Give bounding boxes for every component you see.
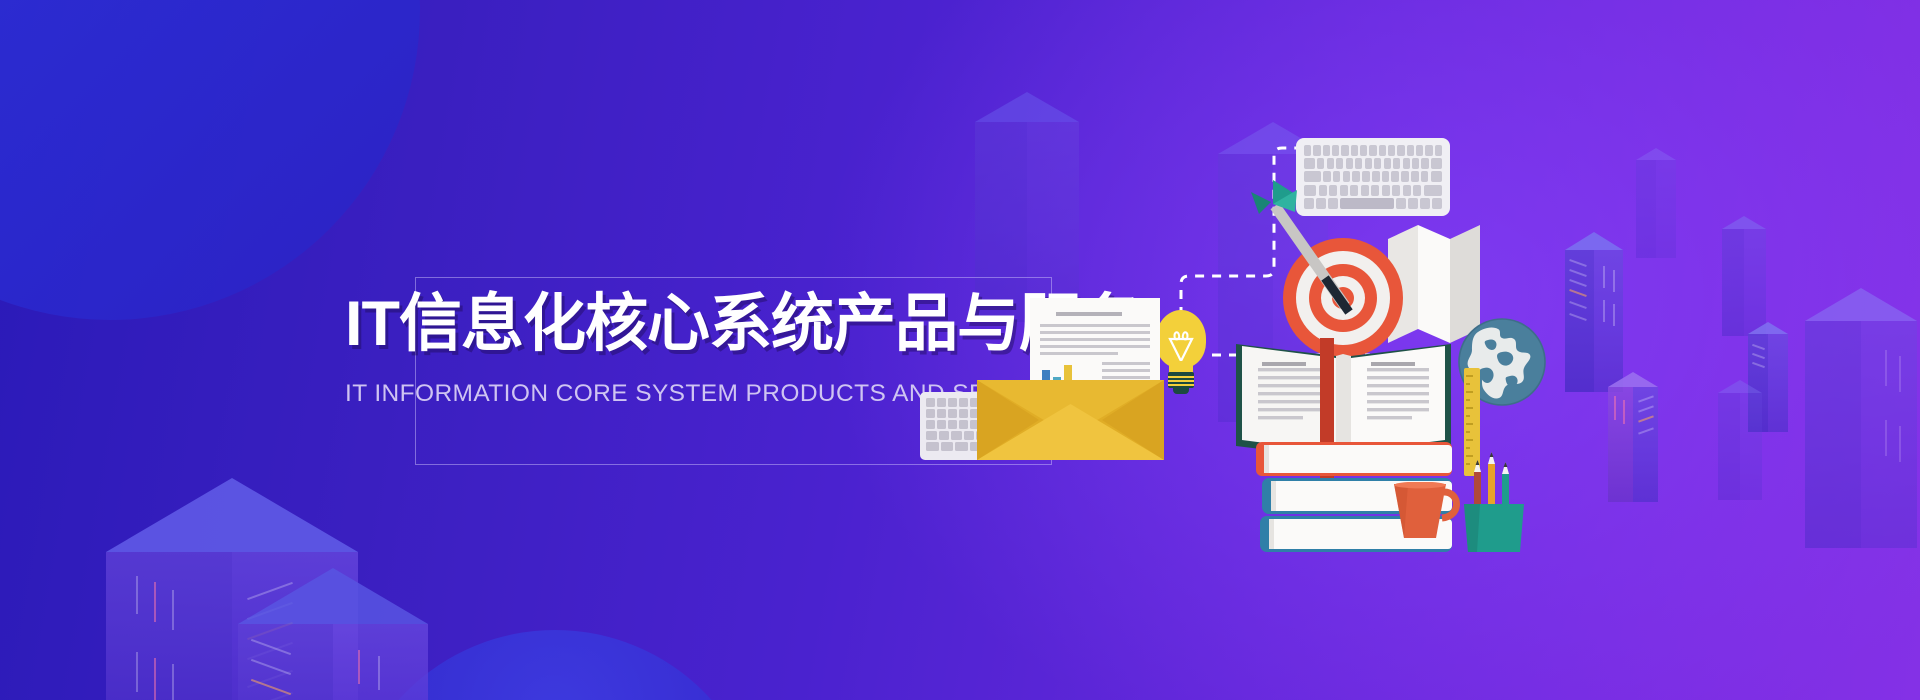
envelope-icon — [977, 380, 1164, 460]
building-window-line — [1885, 350, 1887, 386]
isometric-building — [1565, 232, 1623, 392]
building-window-line — [1885, 420, 1887, 456]
building-window-line — [1614, 396, 1616, 420]
building-window-line — [1899, 426, 1901, 462]
isometric-building — [1718, 380, 1762, 500]
circle-top-left-decoration — [0, 0, 420, 320]
building-window-line — [378, 656, 380, 690]
building-window-line — [154, 582, 156, 622]
arrow-icon — [1265, 188, 1440, 363]
building-window-line — [1899, 356, 1901, 392]
stacked-book — [1256, 442, 1452, 476]
building-window-line — [136, 576, 138, 614]
isometric-building — [1608, 372, 1658, 502]
building-window-line — [1603, 300, 1605, 322]
building-window-line — [172, 590, 174, 630]
coffee-mug-icon — [1392, 482, 1462, 540]
isometric-building — [1636, 148, 1676, 258]
building-window-line — [1603, 266, 1605, 288]
building-window-line — [1613, 270, 1615, 292]
page-title: IT信息化核心系统产品与服务 — [345, 293, 1125, 356]
isometric-building — [1722, 216, 1766, 336]
building-window-line — [1613, 304, 1615, 326]
pencil-cup-icon — [1460, 448, 1528, 552]
lightbulb-base — [1168, 372, 1194, 388]
isometric-building — [1805, 288, 1917, 548]
building-window-line — [172, 664, 174, 700]
building-window-line — [358, 650, 360, 684]
lightbulb-filament — [1166, 327, 1196, 361]
isometric-building — [238, 568, 428, 700]
illustration-cluster — [1120, 130, 1550, 600]
building-window-line — [1623, 400, 1625, 424]
hero-banner: IT信息化核心系统产品与服务 IT INFORMATION CORE SYSTE… — [0, 0, 1920, 700]
building-window-line — [136, 652, 138, 692]
building-window-line — [154, 658, 156, 700]
